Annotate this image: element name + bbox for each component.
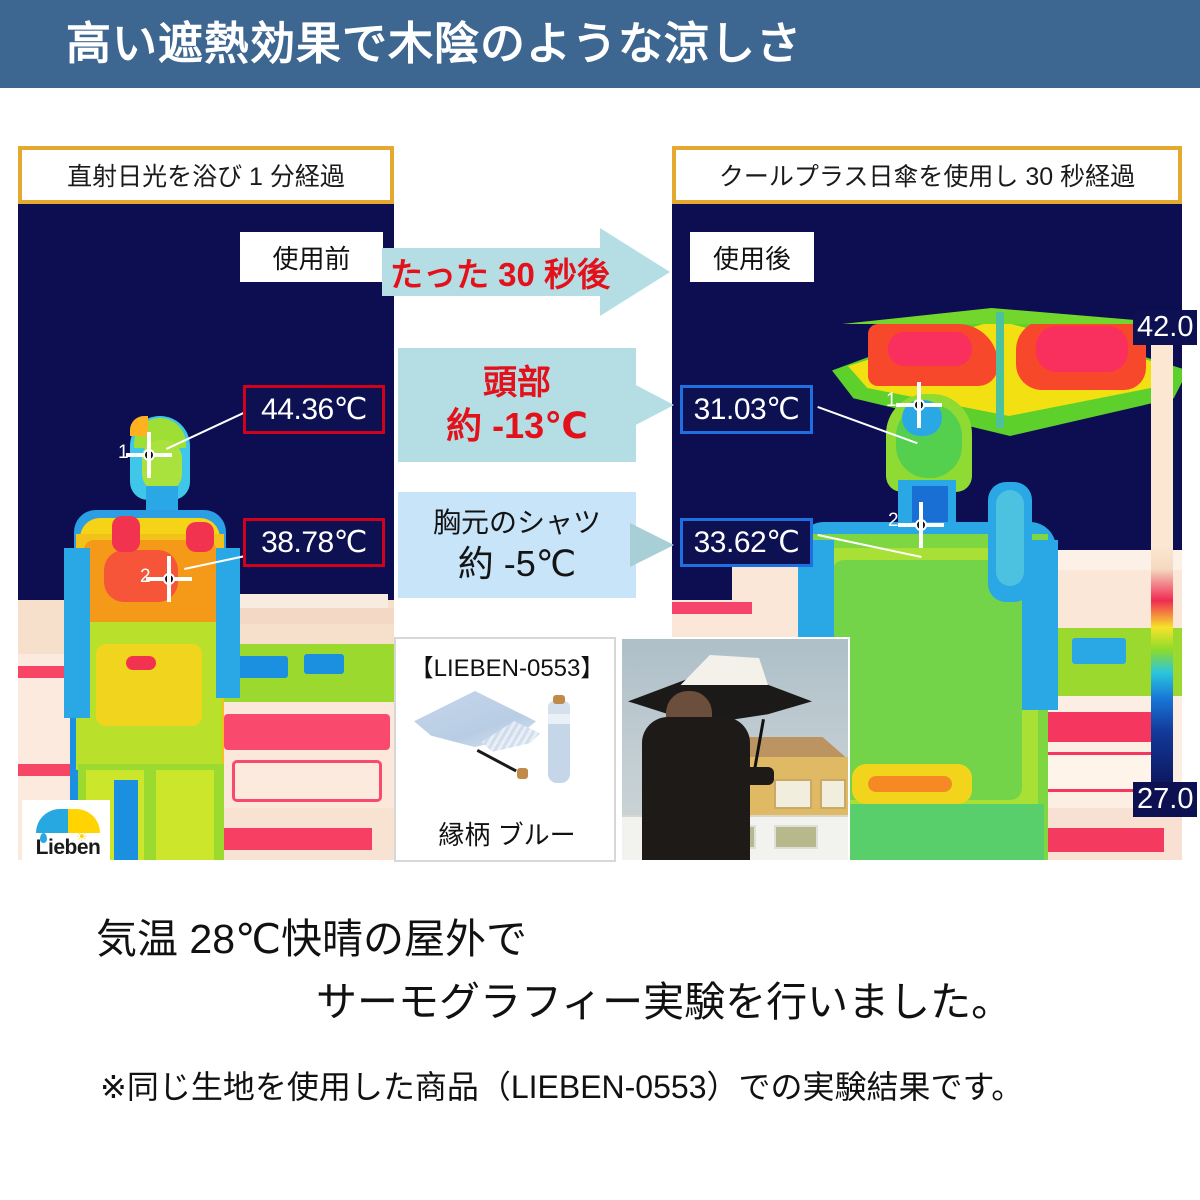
callout-head-line1: 頭部 [483, 362, 551, 404]
umbrella-open-icon [414, 691, 536, 779]
callout-head: 頭部 約 -13℃ [398, 348, 676, 462]
crosshair-marker-2 [146, 556, 192, 602]
callout-chest-box: 胸元のシャツ 約 -5℃ [398, 492, 636, 598]
scale-label-low: 27.0 [1133, 782, 1197, 817]
umbrella-grip [517, 768, 528, 779]
temperature-color-scale [1151, 344, 1173, 794]
temp-readout-before-head: 44.36℃ [243, 385, 385, 434]
temp-readout-after-head: 31.03℃ [680, 385, 813, 434]
photo-window [820, 779, 846, 809]
arrow-30-seconds: たった 30 秒後 [382, 228, 670, 316]
callout-chest-line2: 約 -5℃ [458, 542, 576, 586]
crosshair-label-2: 2 [140, 566, 151, 588]
footnote: ※同じ生地を使用した商品（LIEBEN-0553）での実験結果です。 [100, 1062, 1023, 1108]
crosshair-marker-1 [126, 432, 172, 478]
temp-readout-before-chest: 38.78℃ [243, 518, 385, 567]
photo-person-arm [740, 767, 774, 785]
crosshair-marker-2 [898, 502, 944, 548]
caption-box-before: 直射日光を浴び 1 分経過 [18, 146, 394, 204]
umbrella-folded-cap [553, 695, 565, 704]
umbrella-folded-icon [548, 701, 570, 783]
umbrella-logo-icon [36, 809, 100, 833]
header-banner: 高い遮熱効果で木陰のような涼しさ [0, 0, 1200, 88]
umbrella-shaft [477, 749, 517, 772]
crosshair-marker-1 [896, 382, 942, 428]
product-inset: 【LIEBEN-0553】 縁柄 ブルー [394, 637, 616, 862]
caption-box-after: クールプラス日傘を使用し 30 秒経過 [672, 146, 1182, 204]
callout-head-line2: 約 -13℃ [446, 404, 588, 448]
lieben-logo: ☀ Lieben [22, 800, 110, 860]
description-line-1: 気温 28℃快晴の屋外で [96, 905, 527, 965]
crosshair-label-1: 1 [886, 390, 897, 412]
callout-chest-line1: 胸元のシャツ [433, 504, 601, 542]
arrow-30-label: たった 30 秒後 [400, 245, 600, 299]
product-model-label: 【LIEBEN-0553】 [396, 648, 618, 683]
state-tag-before: 使用前 [240, 232, 383, 282]
crosshair-label-1: 1 [118, 442, 129, 464]
photo-inset-person-with-umbrella [620, 637, 850, 862]
umbrella-logo-left-half [36, 809, 68, 833]
description-line-2: サーモグラフィー実験を行いました。 [316, 968, 1012, 1028]
lieben-wordmark: Lieben [24, 836, 112, 860]
scale-label-high: 42.0 [1133, 310, 1197, 345]
photo-truck-window [774, 825, 818, 849]
temp-readout-after-chest: 33.62℃ [680, 518, 813, 567]
state-tag-after: 使用後 [690, 232, 814, 282]
product-color-label: 縁柄 ブルー [396, 815, 618, 852]
photo-person-body [642, 717, 750, 862]
callout-head-arrow-tip [630, 382, 674, 428]
page-title: 高い遮熱効果で木陰のような涼しさ [66, 12, 802, 76]
arrow-head [600, 228, 670, 316]
callout-chest: 胸元のシャツ 約 -5℃ [398, 492, 676, 598]
callout-head-box: 頭部 約 -13℃ [398, 348, 636, 462]
crosshair-label-2: 2 [888, 510, 899, 532]
photo-window [774, 779, 812, 809]
callout-chest-arrow-tip [630, 523, 674, 567]
